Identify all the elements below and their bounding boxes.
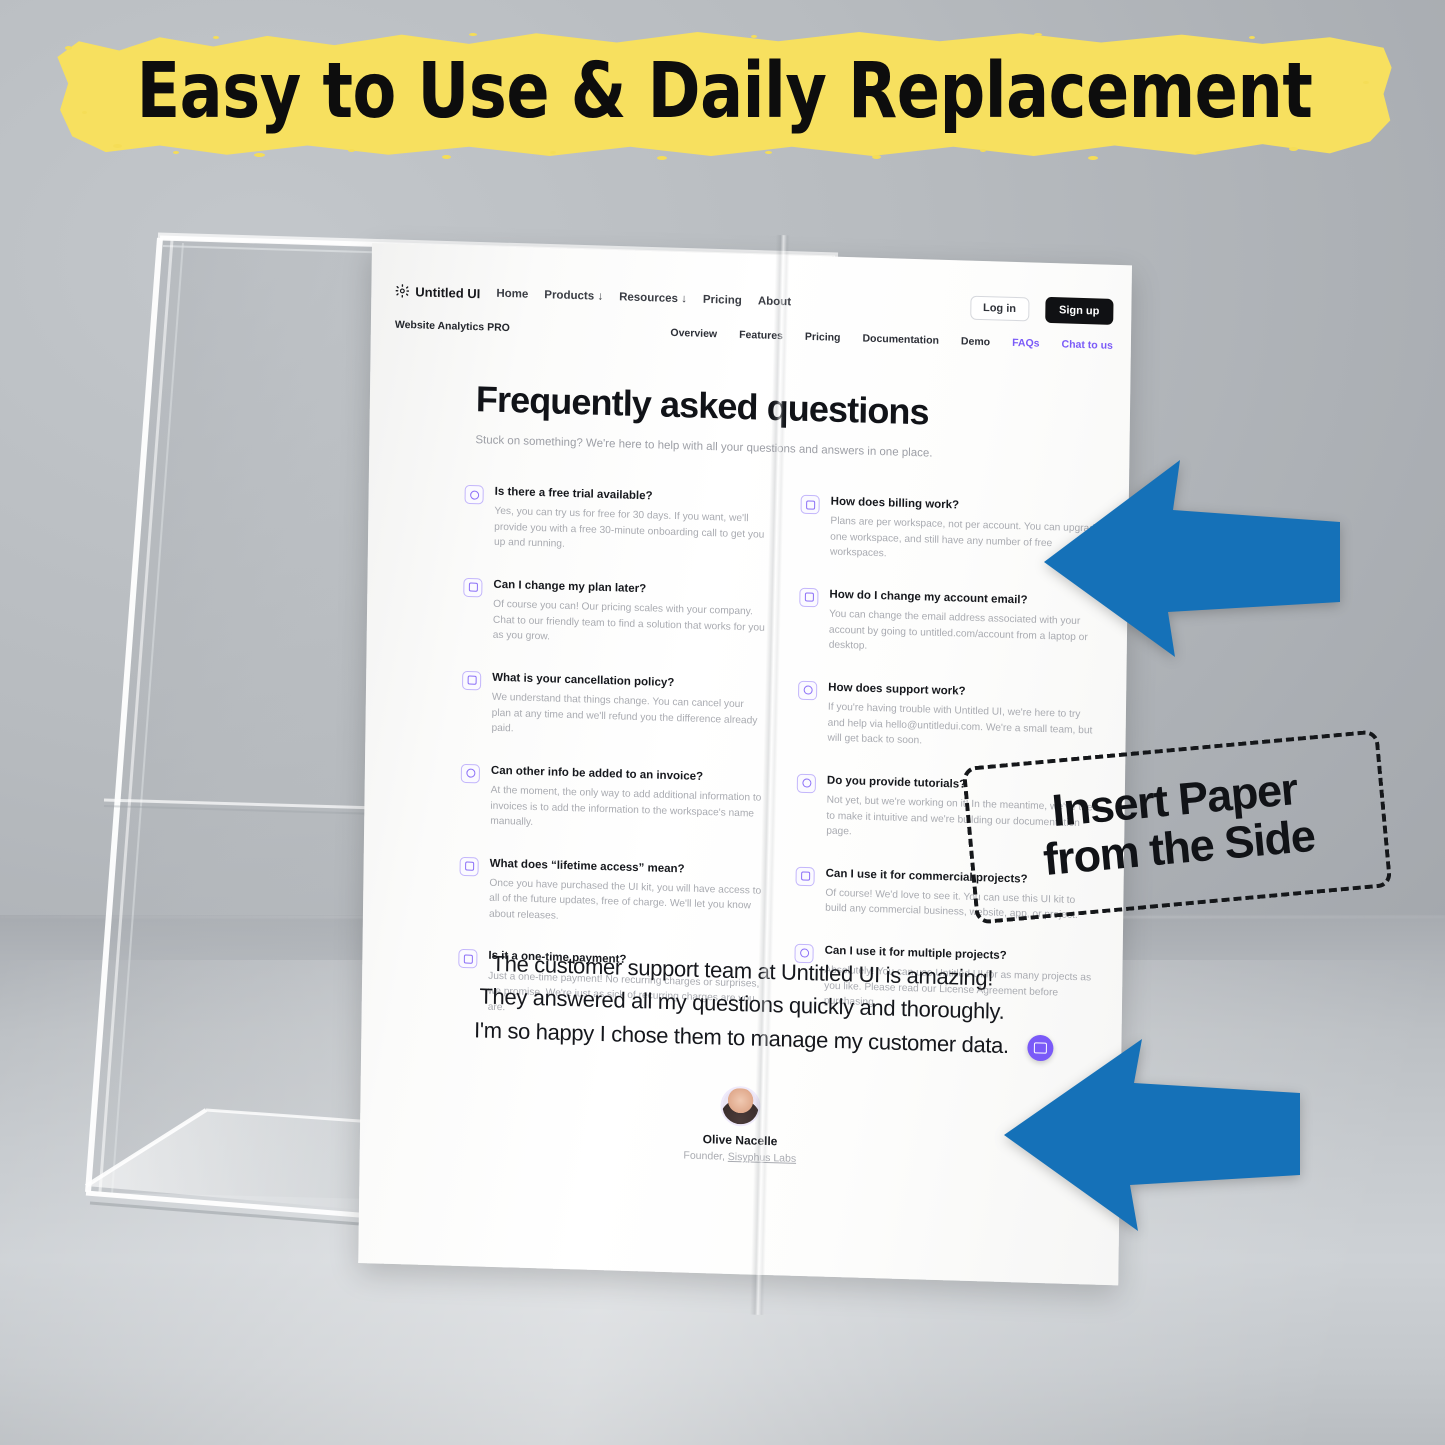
stand-paper-slot-seam: [104, 800, 378, 808]
subnav-documentation[interactable]: Documentation: [862, 333, 939, 347]
faq-answer: Yes, you can try us for free for 30 days…: [494, 504, 767, 559]
site-top-nav: Untitled UI Home Products ↓ Resources ↓ …: [395, 278, 1113, 325]
subnav-faqs[interactable]: FAQs: [1012, 337, 1040, 350]
testimonial-company-link[interactable]: Sisyphus Labs: [728, 1151, 796, 1165]
subnav-features[interactable]: Features: [739, 329, 783, 342]
site-sub-nav: Website Analytics PRO Overview Features …: [395, 319, 1113, 352]
login-button[interactable]: Log in: [970, 296, 1029, 322]
nav-link-pricing[interactable]: Pricing: [703, 294, 742, 307]
card-icon: [462, 671, 481, 691]
subnav-demo[interactable]: Demo: [961, 335, 990, 348]
nav-link-about[interactable]: About: [758, 295, 791, 308]
brand-name: Untitled UI: [415, 284, 480, 301]
nav-link-resources[interactable]: Resources ↓: [619, 291, 687, 305]
smiley-icon: [465, 485, 484, 505]
sparkle-icon: [460, 856, 479, 876]
faq-question: What is your cancellation policy?: [492, 670, 764, 692]
page-subtitle: Stuck on something? We're here to help w…: [475, 434, 1089, 464]
testimonial-section: The customer support team at Untitled UI…: [400, 944, 1083, 1173]
faq-item[interactable]: Can other info be added to an invoice? A…: [460, 762, 763, 837]
banner-headline: Easy to Use & Daily Replacement: [106, 28, 1343, 160]
nav-link-home[interactable]: Home: [496, 288, 528, 301]
support-icon: [798, 680, 817, 700]
page-title: Frequently asked questions: [476, 378, 929, 433]
user-plus-icon: [461, 763, 480, 783]
layers-icon: [463, 578, 482, 598]
left-arrow-upper: [1040, 452, 1340, 662]
mail-icon: [799, 588, 818, 608]
faq-question: What does “lifetime access” mean?: [490, 856, 762, 878]
faq-question: Can other info be added to an invoice?: [491, 763, 763, 785]
wallet-icon: [801, 495, 820, 515]
gear-icon: [395, 284, 409, 298]
subnav-overview[interactable]: Overview: [670, 327, 717, 340]
faq-question: Can I change my plan later?: [493, 578, 765, 600]
left-arrow-lower: [1000, 1035, 1300, 1235]
faq-item[interactable]: What does “lifetime access” mean? Once y…: [459, 855, 762, 930]
faq-item[interactable]: Can I change my plan later? Of course yo…: [463, 577, 766, 652]
faq-answer: If you're having trouble with Untitled U…: [827, 700, 1100, 755]
chat-to-us-link[interactable]: Chat to us: [1061, 338, 1113, 352]
faq-answer: Of course you can! Our pricing scales wi…: [493, 597, 766, 652]
faq-question: How does support work?: [828, 680, 1100, 702]
faq-item[interactable]: How does support work? If you're having …: [797, 679, 1100, 754]
faq-answer: At the moment, the only way to add addit…: [490, 783, 763, 838]
header-banner: Easy to Use & Daily Replacement: [52, 28, 1397, 160]
play-icon: [797, 773, 816, 793]
product-kicker: Website Analytics PRO: [395, 319, 510, 334]
faq-item[interactable]: What is your cancellation policy? We und…: [461, 670, 764, 745]
brand-logo[interactable]: Untitled UI: [395, 283, 480, 301]
testimonial-role-prefix: Founder,: [683, 1150, 728, 1163]
signup-button[interactable]: Sign up: [1045, 297, 1114, 325]
avatar: [722, 1088, 758, 1125]
faq-answer: We understand that things change. You ca…: [491, 690, 764, 745]
nav-link-products[interactable]: Products ↓: [544, 289, 603, 303]
faq-question: Is there a free trial available?: [495, 485, 767, 507]
product-marketing-image: Untitled UI Home Products ↓ Resources ↓ …: [0, 0, 1445, 1445]
subnav-pricing[interactable]: Pricing: [805, 331, 841, 344]
box-icon: [796, 866, 815, 886]
faq-answer: Once you have purchased the UI kit, you …: [489, 876, 762, 931]
faq-item[interactable]: Is there a free trial available? Yes, yo…: [464, 484, 767, 559]
